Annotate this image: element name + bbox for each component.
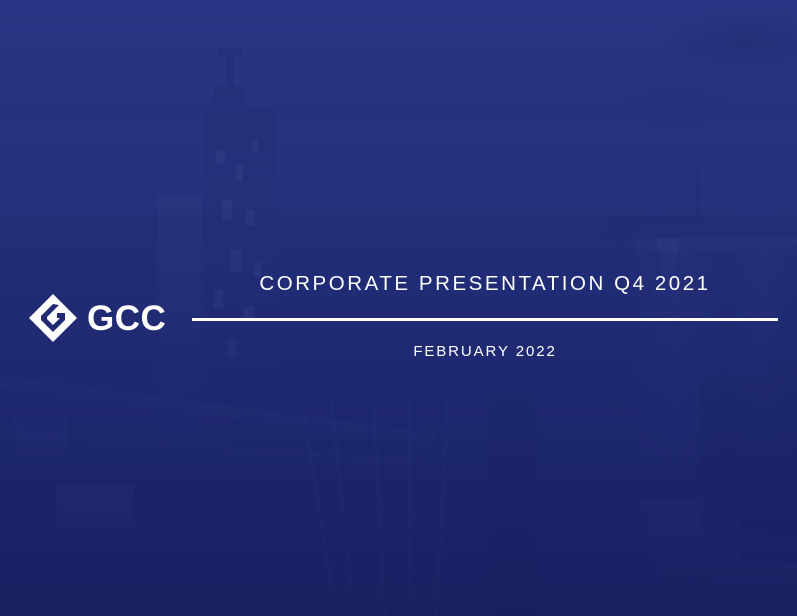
gcc-logo-lockup: GCC (28, 293, 166, 343)
gcc-diamond-logo-icon (28, 293, 78, 343)
slide-content: GCC CORPORATE PRESENTATION Q4 2021 FEBRU… (0, 0, 797, 616)
title-slide: GCC CORPORATE PRESENTATION Q4 2021 FEBRU… (0, 0, 797, 616)
slide-title: CORPORATE PRESENTATION Q4 2021 (192, 274, 778, 295)
slide-subtitle: FEBRUARY 2022 (192, 344, 778, 359)
title-divider (192, 318, 778, 321)
gcc-wordmark: GCC (87, 301, 166, 336)
